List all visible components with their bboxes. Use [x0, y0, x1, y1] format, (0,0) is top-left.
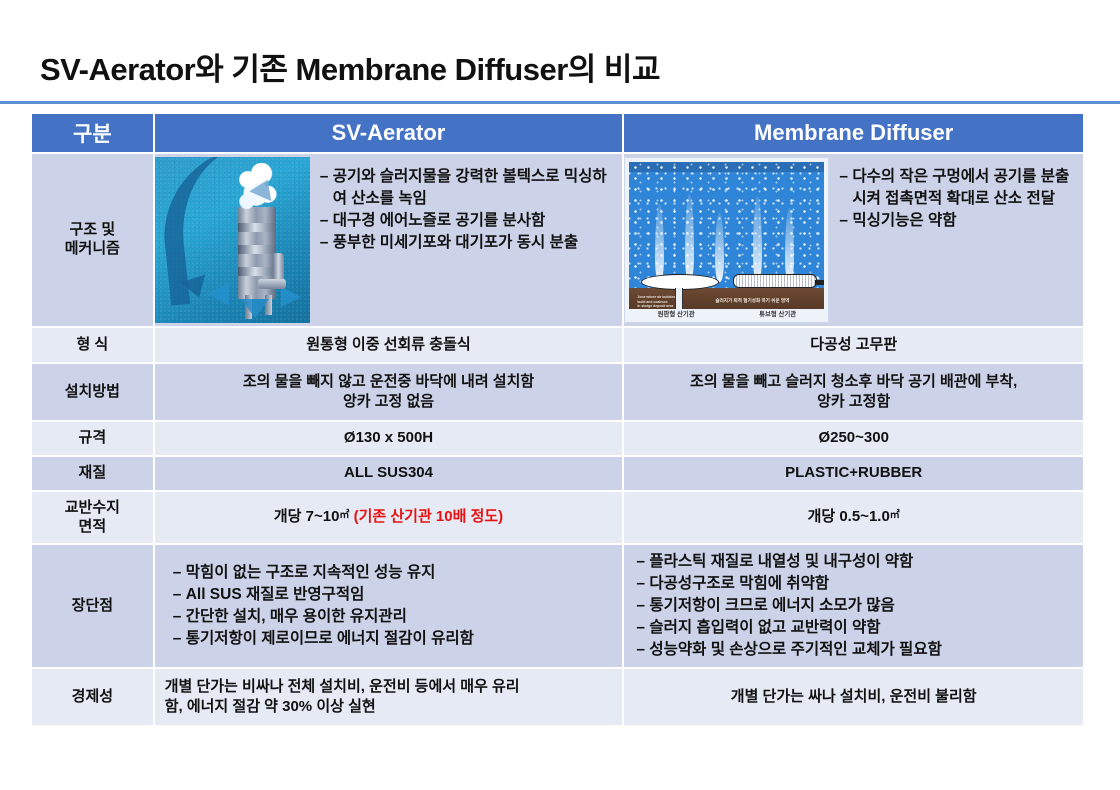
unit-square-meter: ㎡ — [339, 510, 349, 521]
cell-line2: 앙카 고정함 — [624, 392, 1083, 412]
bullet-text: All SUS 재질로 반영구적임 — [186, 584, 617, 606]
table-row-economics: 경제성 개별 단가는 비싸나 전체 설치비, 운전비 등에서 매우 유리 함, … — [32, 669, 1083, 725]
cell-sv-structure: – 공기와 슬러지물을 강력한 볼텍스로 믹싱하여 산소를 녹임 – 대구경 에… — [155, 154, 623, 326]
row-label-type: 형 식 — [32, 328, 153, 362]
bullet-text: 슬러지 흡입력이 없고 교반력이 약함 — [649, 617, 1077, 639]
list-item: – 플라스틱 재질로 내열성 및 내구성이 약함 — [636, 551, 1077, 573]
bullet-text: 통기저항이 크므로 에너지 소모가 많음 — [649, 595, 1077, 617]
diagram-caption-disc: 원판형 산기관 — [625, 309, 727, 321]
cell-md-installation: 조의 물을 빼고 슬러지 청소후 바닥 공기 배관에 부착, 앙카 고정함 — [624, 364, 1083, 420]
table-row-mixing-area: 교반수지 면적 개당 7~10㎡ (기존 산기관 10배 정도) 개당 0.5~… — [32, 492, 1083, 543]
row-label-spec: 규격 — [32, 422, 153, 455]
list-item: – 통기저항이 제로이므로 에너지 절감이 유리함 — [173, 628, 617, 650]
cell-sv-installation: 조의 물을 빼지 않고 운전중 바닥에 내려 설치함 앙카 고정 없음 — [155, 364, 623, 420]
cell-line1: 조의 물을 빼지 않고 운전중 바닥에 내려 설치함 — [155, 372, 623, 392]
table-row-spec: 규격 Ø130 x 500H Ø250~300 — [32, 422, 1083, 455]
cell-md-economics: 개별 단가는 싸나 설치비, 운전비 불리함 — [624, 669, 1083, 725]
table-row-structure: 구조 및 메커니즘 — [32, 154, 1083, 326]
membrane-diffuser-photo-wrap: 슬러지가 퇴적 혐기성화 하기 쉬운 영역 Zone where air bub… — [624, 154, 829, 326]
bullet-text: 플라스틱 재질로 내열성 및 내구성이 약함 — [649, 551, 1077, 573]
row-label-line2: 면적 — [32, 518, 153, 537]
sv-pros-bullets: – 막힘이 없는 구조로 지속적인 성능 유지 – All SUS 재질로 반영… — [155, 558, 623, 654]
list-item: – 간단한 설치, 매우 용이한 유지관리 — [173, 606, 617, 628]
header-cell-membrane-diffuser: Membrane Diffuser — [624, 114, 1083, 152]
table-row-installation: 설치방법 조의 물을 빼지 않고 운전중 바닥에 내려 설치함 앙카 고정 없음… — [32, 364, 1083, 420]
row-label-material: 재질 — [32, 457, 153, 490]
dash-icon: – — [173, 606, 186, 628]
dash-icon: – — [636, 573, 649, 595]
list-item: – 막힘이 없는 구조로 지속적인 성능 유지 — [173, 562, 617, 584]
diagram-note: 슬러지가 퇴적 혐기성화 하기 쉬운 영역 — [715, 298, 789, 304]
mixing-area-value: 개당 0.5~1.0 — [808, 508, 890, 525]
dash-icon: – — [636, 595, 649, 617]
dash-icon: – — [839, 210, 852, 232]
bullet-text: 성능약화 및 손상으로 주기적인 교체가 필요함 — [649, 639, 1077, 661]
md-cons-bullets: – 플라스틱 재질로 내열성 및 내구성이 약함 – 다공성구조로 막힘에 취약… — [624, 547, 1083, 665]
mixing-area-emphasis: (기존 산기관 10배 정도) — [354, 508, 504, 525]
md-structure-bullets: – 다수의 작은 구멍에서 공기를 분출시켜 접촉면적 확대로 산소 전달 – … — [829, 162, 1083, 236]
cell-sv-type: 원통형 이중 선회류 충돌식 — [155, 328, 623, 362]
cell-md-type: 다공성 고무판 — [624, 328, 1083, 362]
cell-md-material: PLASTIC+RUBBER — [624, 457, 1083, 490]
row-label-line1: 구조 및 — [32, 221, 153, 240]
cell-md-structure: 슬러지가 퇴적 혐기성화 하기 쉬운 영역 Zone where air bub… — [624, 154, 1083, 326]
row-label-line2: 메커니즘 — [32, 240, 153, 259]
bullet-text: 풍부한 미세기포와 대기포가 동시 분출 — [333, 232, 617, 254]
cell-sv-mixing-area: 개당 7~10㎡ (기존 산기관 10배 정도) — [155, 492, 623, 543]
dash-icon: – — [173, 628, 186, 650]
cell-sv-material: ALL SUS304 — [155, 457, 623, 490]
cell-sv-spec: Ø130 x 500H — [155, 422, 623, 455]
dash-icon: – — [320, 232, 333, 254]
list-item: – 다공성구조로 막힘에 취약함 — [636, 573, 1077, 595]
list-item: – 믹싱기능은 약함 — [839, 210, 1077, 232]
list-item: – 슬러지 흡입력이 없고 교반력이 약함 — [636, 617, 1077, 639]
dash-icon: – — [636, 551, 649, 573]
cell-sv-pros-cons: – 막힘이 없는 구조로 지속적인 성능 유지 – All SUS 재질로 반영… — [155, 545, 623, 667]
bullet-text: 다수의 작은 구멍에서 공기를 분출시켜 접촉면적 확대로 산소 전달 — [852, 166, 1077, 210]
cell-md-mixing-area: 개당 0.5~1.0㎡ — [624, 492, 1083, 543]
row-label-mixing-area: 교반수지 면적 — [32, 492, 153, 543]
list-item: – 성능약화 및 손상으로 주기적인 교체가 필요함 — [636, 639, 1077, 661]
list-item: – 다수의 작은 구멍에서 공기를 분출시켜 접촉면적 확대로 산소 전달 — [839, 166, 1077, 210]
header-cell-sv-aerator: SV-Aerator — [155, 114, 623, 152]
table-row-type: 형 식 원통형 이중 선회류 충돌식 다공성 고무판 — [32, 328, 1083, 362]
cell-line1: 조의 물을 빼고 슬러지 청소후 바닥 공기 배관에 부착, — [624, 372, 1083, 392]
sv-aerator-photo-wrap — [155, 154, 310, 326]
diagram-note-small: Zone where air bubblesbuild and coalesce… — [637, 295, 675, 308]
sv-aerator-illustration-icon — [155, 157, 310, 323]
dash-icon: – — [320, 210, 333, 232]
dash-icon: – — [636, 639, 649, 661]
row-label-installation: 설치방법 — [32, 364, 153, 420]
list-item: – 대구경 에어노즐로 공기를 분사함 — [320, 210, 617, 232]
dash-icon: – — [320, 166, 333, 188]
table-header-row: 구분 SV-Aerator Membrane Diffuser — [32, 114, 1083, 152]
cell-line1: 개별 단가는 비싸나 전체 설치비, 운전비 등에서 매우 유리 — [165, 677, 613, 697]
cell-line2: 함, 에너지 절감 약 30% 이상 실현 — [165, 697, 613, 717]
mixing-area-value: 개당 7~10 — [274, 508, 340, 525]
bullet-text: 대구경 에어노즐로 공기를 분사함 — [333, 210, 617, 232]
cell-sv-economics: 개별 단가는 비싸나 전체 설치비, 운전비 등에서 매우 유리 함, 에너지 … — [155, 669, 623, 725]
title-divider — [0, 101, 1120, 104]
sv-structure-bullets: – 공기와 슬러지물을 강력한 볼텍스로 믹싱하여 산소를 녹임 – 대구경 에… — [310, 162, 623, 258]
dash-icon: – — [173, 584, 186, 606]
row-label-pros-cons: 장단점 — [32, 545, 153, 667]
bullet-text: 믹싱기능은 약함 — [852, 210, 1077, 232]
table-row-material: 재질 ALL SUS304 PLASTIC+RUBBER — [32, 457, 1083, 490]
membrane-diffuser-illustration-icon: 슬러지가 퇴적 혐기성화 하기 쉬운 영역 Zone where air bub… — [624, 157, 829, 323]
header-cell-category: 구분 — [32, 114, 153, 152]
dash-icon: – — [839, 166, 852, 188]
list-item: – 통기저항이 크므로 에너지 소모가 많음 — [636, 595, 1077, 617]
row-label-economics: 경제성 — [32, 669, 153, 725]
page-title: SV-Aerator와 기존 Membrane Diffuser의 비교 — [40, 44, 660, 89]
dash-icon: – — [173, 562, 186, 584]
diagram-caption-tube: 튜브형 산기관 — [727, 309, 829, 321]
dash-icon: – — [636, 617, 649, 639]
bullet-text: 통기저항이 제로이므로 에너지 절감이 유리함 — [186, 628, 617, 650]
bullet-text: 막힘이 없는 구조로 지속적인 성능 유지 — [186, 562, 617, 584]
row-label-structure: 구조 및 메커니즘 — [32, 154, 153, 326]
cell-md-pros-cons: – 플라스틱 재질로 내열성 및 내구성이 약함 – 다공성구조로 막힘에 취약… — [624, 545, 1083, 667]
cell-line2: 앙카 고정 없음 — [155, 392, 623, 412]
comparison-table: 구분 SV-Aerator Membrane Diffuser 구조 및 메커니… — [30, 112, 1085, 727]
bullet-text: 간단한 설치, 매우 용이한 유지관리 — [186, 606, 617, 628]
list-item: – 풍부한 미세기포와 대기포가 동시 분출 — [320, 232, 617, 254]
list-item: – All SUS 재질로 반영구적임 — [173, 584, 617, 606]
list-item: – 공기와 슬러지물을 강력한 볼텍스로 믹싱하여 산소를 녹임 — [320, 166, 617, 210]
unit-square-meter: ㎡ — [890, 510, 900, 521]
bullet-text: 다공성구조로 막힘에 취약함 — [649, 573, 1077, 595]
cell-md-spec: Ø250~300 — [624, 422, 1083, 455]
row-label-line1: 교반수지 — [32, 499, 153, 518]
table-row-pros-cons: 장단점 – 막힘이 없는 구조로 지속적인 성능 유지 – All SUS 재질… — [32, 545, 1083, 667]
bullet-text: 공기와 슬러지물을 강력한 볼텍스로 믹싱하여 산소를 녹임 — [333, 166, 617, 210]
